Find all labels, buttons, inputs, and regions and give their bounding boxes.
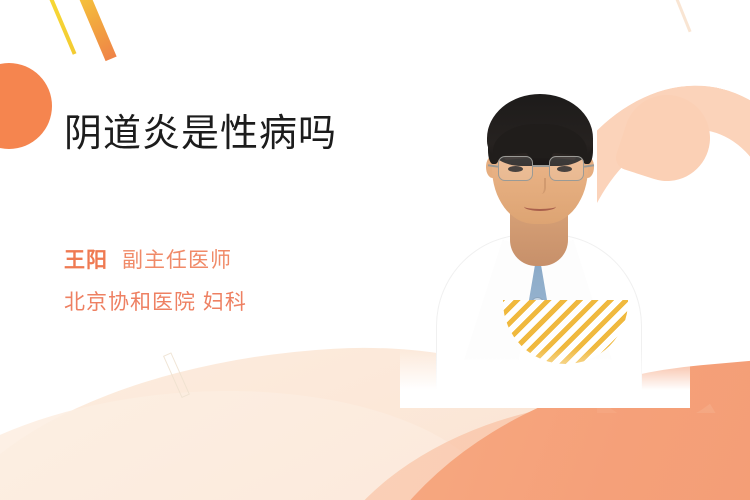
doctor-name: 王阳 — [64, 249, 108, 272]
outlined-stripe-icon — [163, 352, 190, 398]
orange-circle-shape — [0, 63, 52, 149]
video-thumbnail-card: 阴道炎是性病吗 王阳副主任医师 北京协和医院 妇科 — [0, 0, 750, 500]
glasses-bridge — [533, 165, 549, 167]
headline-block: 阴道炎是性病吗 — [64, 112, 337, 157]
lens-right — [549, 156, 584, 181]
page-title: 阴道炎是性病吗 — [64, 112, 337, 157]
faint-stripe-icon — [670, 0, 692, 32]
doctor-title: 副主任医师 — [122, 249, 232, 272]
doctor-credentials: 王阳副主任医师 北京协和医院 妇科 — [64, 248, 247, 316]
doctor-affiliation: 北京协和医院 妇科 — [64, 286, 247, 316]
orange-stripe-icon — [72, 0, 117, 61]
nose — [534, 178, 546, 194]
doctor-name-row: 王阳副主任医师 — [64, 248, 247, 274]
lens-left — [498, 156, 533, 181]
yellow-stripe-icon — [47, 0, 76, 55]
portrait-bottom-fade — [400, 348, 690, 408]
mouth — [524, 202, 556, 211]
